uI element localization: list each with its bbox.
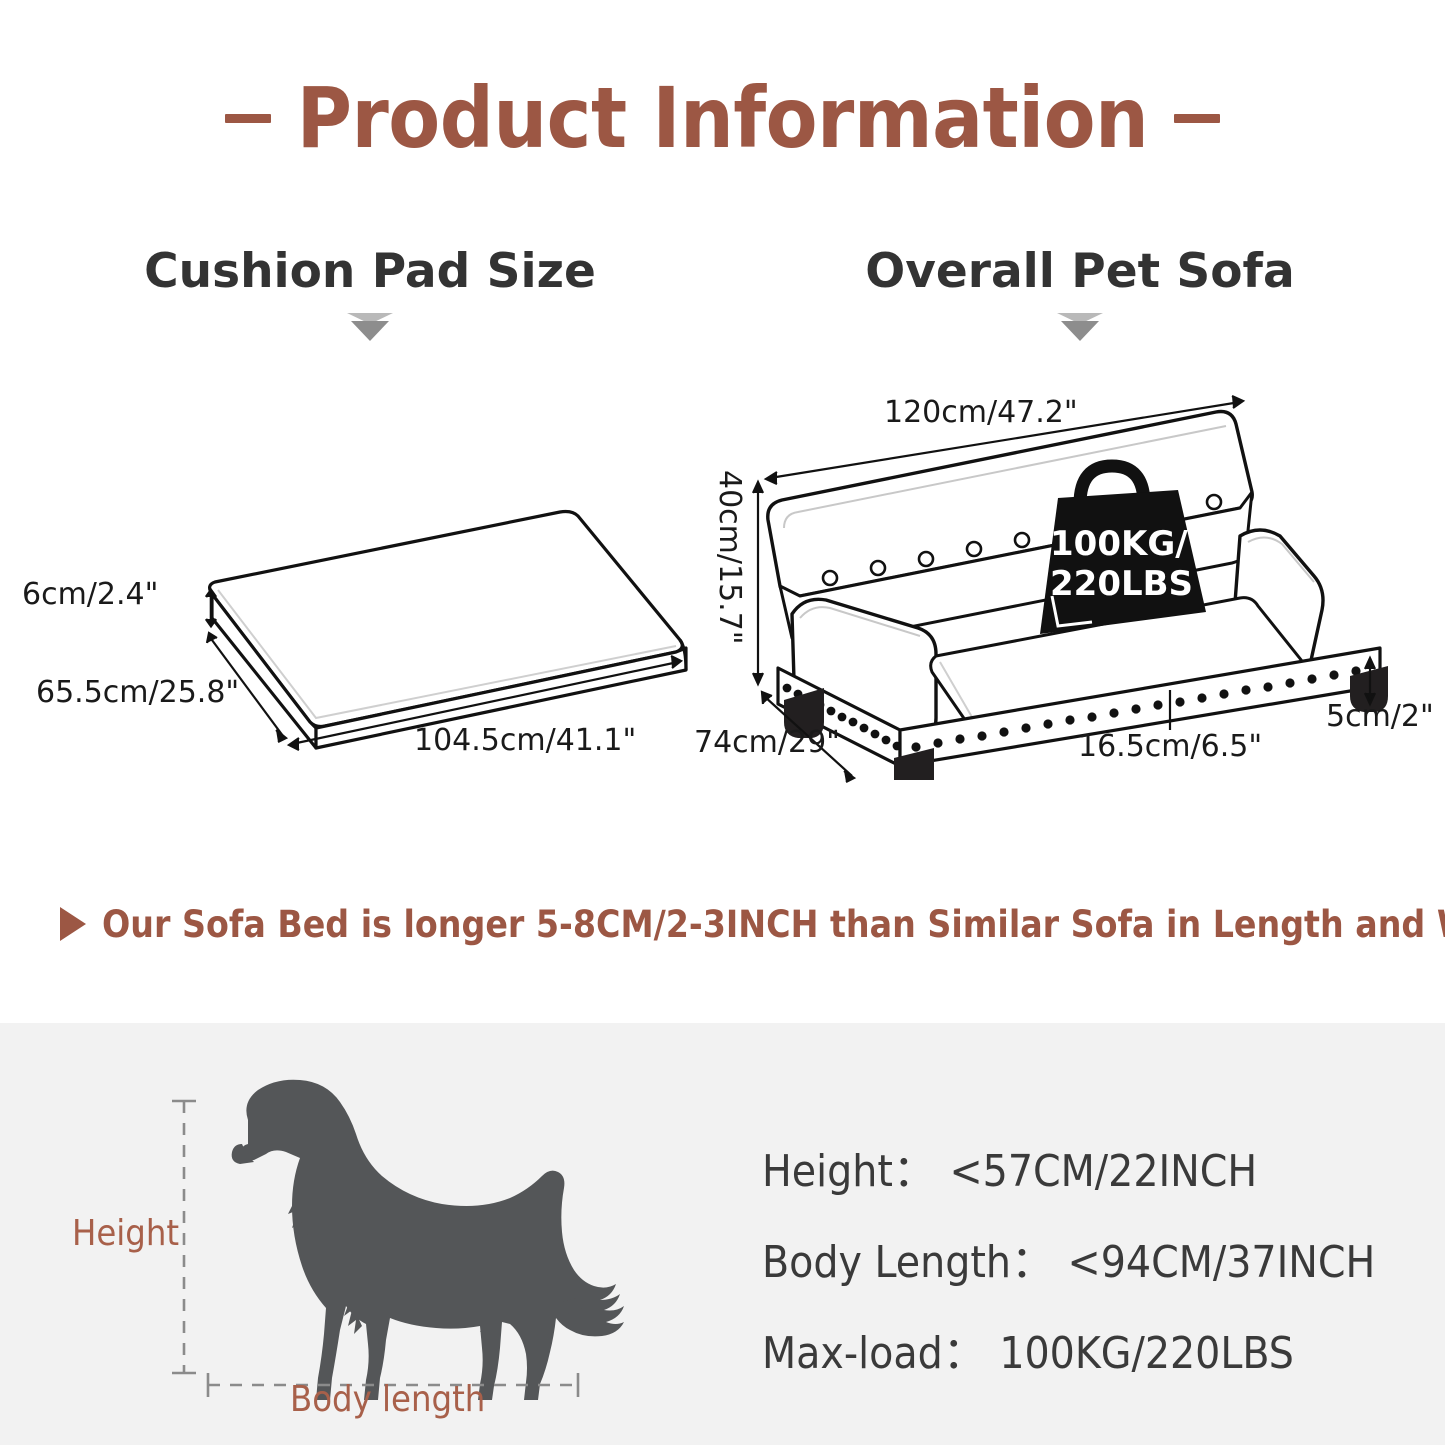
dog-body-length-label: Body length: [290, 1382, 485, 1418]
spec-row-body-length: Body Length： <94CM/37INCH: [762, 1241, 1422, 1285]
sofa-column-header: Overall Pet Sofa: [840, 248, 1320, 341]
dog-silhouette-icon: [150, 1048, 710, 1418]
spec-row-max-load: Max-load： 100KG/220LBS: [762, 1332, 1422, 1376]
weight-tag-line2: 220LBS: [1050, 564, 1170, 604]
triangle-right-icon: [60, 907, 86, 941]
spec-key-height: Height：: [762, 1146, 937, 1197]
spec-row-height: Height： <57CM/22INCH: [762, 1150, 1422, 1194]
spec-value-body-length: <94CM/37INCH: [1068, 1237, 1376, 1288]
title-dash-right: [1174, 114, 1220, 123]
sofa-height-label: 40cm/15.7": [714, 470, 744, 645]
page-title-row: Product Information: [0, 58, 1445, 178]
sofa-width-label: 120cm/47.2": [884, 398, 1078, 428]
tagline: Our Sofa Bed is longer 5-8CM/2-3INCH tha…: [60, 898, 1420, 950]
dog-height-label: Height: [72, 1216, 179, 1252]
sofa-leg-height-label: 5cm/2": [1326, 702, 1434, 732]
spec-key-body-length: Body Length：: [762, 1237, 1055, 1288]
cushion-heading: Cushion Pad Size: [110, 248, 630, 295]
double-chevron-down-icon: [347, 313, 393, 341]
tagline-text: Our Sofa Bed is longer 5-8CM/2-3INCH tha…: [102, 906, 1445, 943]
top-section: Product Information Cushion Pad Size Ove…: [0, 0, 1445, 1023]
product-information-page: Product Information Cushion Pad Size Ove…: [0, 0, 1445, 1445]
double-chevron-down-icon: [1057, 313, 1103, 341]
cushion-pad-diagram: [120, 490, 700, 760]
spec-value-max-load: 100KG/220LBS: [999, 1328, 1294, 1379]
sofa-heading: Overall Pet Sofa: [840, 248, 1320, 295]
chevron-bottom: [1061, 321, 1099, 341]
spec-value-height: <57CM/22INCH: [949, 1146, 1257, 1197]
chevron-bottom: [351, 321, 389, 341]
title-dash-left: [225, 114, 271, 123]
weight-tag-line1: 100KG/: [1050, 524, 1170, 564]
cushion-thickness-label: 6cm/2.4": [22, 580, 158, 610]
cushion-depth-label: 65.5cm/25.8": [36, 678, 239, 708]
cushion-column-header: Cushion Pad Size: [110, 248, 630, 341]
page-title: Product Information: [297, 76, 1149, 160]
weight-tag-text: 100KG/ 220LBS: [1050, 524, 1170, 604]
pet-spec-list: Height： <57CM/22INCH Body Length： <94CM/…: [762, 1150, 1422, 1423]
sofa-depth-label: 74cm/29": [694, 728, 840, 758]
cushion-width-label: 104.5cm/41.1": [414, 726, 636, 756]
spec-key-max-load: Max-load：: [762, 1328, 987, 1379]
sofa-seat-height-label: 16.5cm/6.5": [1078, 732, 1262, 762]
